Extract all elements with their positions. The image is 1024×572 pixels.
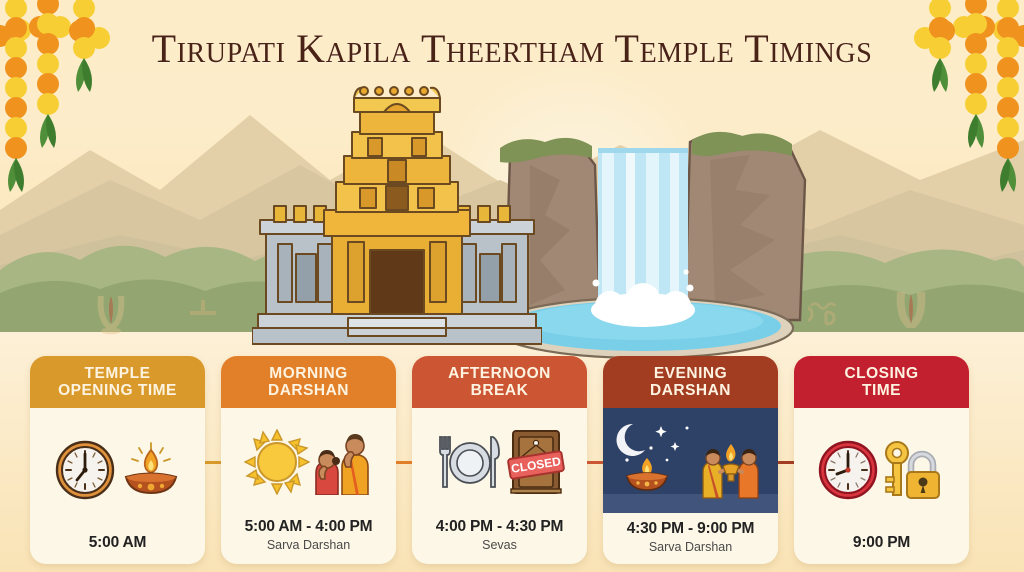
card-subtitle: Sarva Darshan [607,540,774,554]
gopuram-temple [252,82,542,350]
card-subtitle: Sarva Darshan [225,538,392,552]
card-header: AFTERNOONBREAK [412,356,587,408]
card-footer: 4:00 PM - 4:30 PM Sevas [412,516,587,564]
timing-card-morning-darshan[interactable]: MORNINGDARSHAN [221,356,396,564]
timing-card-evening-darshan[interactable]: EVENINGDARSHAN [603,356,778,564]
timing-card-temple-opening[interactable]: TEMPLEOPENING TIME [30,356,205,564]
card-artwork [794,408,969,532]
card-time: 5:00 AM - 4:00 PM [225,518,392,536]
card-time: 4:30 PM - 9:00 PM [607,520,774,538]
card-time: 4:00 PM - 4:30 PM [416,518,583,536]
card-header: MORNINGDARSHAN [221,356,396,408]
sun-icon [244,429,310,495]
infographic-canvas: Tirupati Kapila Theertham Temple Timings [0,0,1024,572]
card-footer: 5:00 AM [30,532,205,564]
timings-card-row: TEMPLEOPENING TIME [0,356,1024,572]
praying-devotees-icon [312,429,374,495]
waterfall-scene [500,120,830,360]
card-artwork: CLOSED [412,408,587,516]
card-header: EVENINGDARSHAN [603,356,778,408]
card-footer: 4:30 PM - 9:00 PM Sarva Darshan [603,513,778,564]
card-header: CLOSINGTIME [794,356,969,408]
card-artwork [221,408,396,516]
card-artwork-night [603,408,778,513]
card-artwork [30,408,205,532]
page-title: Tirupati Kapila Theertham Temple Timings [0,25,1024,72]
timing-card-closing-time[interactable]: CLOSINGTIME [794,356,969,564]
card-time: 9:00 PM [798,534,965,552]
closed-door-icon: CLOSED [507,429,565,495]
key-padlock-icon [881,439,947,501]
card-subtitle: Sevas [416,538,583,552]
vaishnava-namam-icon [93,292,129,336]
timing-card-afternoon-break[interactable]: AFTERNOONBREAK [412,356,587,564]
vaishnava-namam-icon-right [893,290,929,336]
key-part [886,442,908,495]
swastika-icon [190,300,216,326]
card-time: 5:00 AM [34,534,201,552]
diya-lamp-icon [120,439,182,501]
card-header: TEMPLEOPENING TIME [30,356,205,408]
meal-plate-icon [435,431,505,493]
card-footer: 9:00 PM [794,532,969,564]
om-icon [808,300,838,328]
card-footer: 5:00 AM - 4:00 PM Sarva Darshan [221,516,396,564]
clock-icon [54,439,116,501]
clock-icon [817,439,879,501]
